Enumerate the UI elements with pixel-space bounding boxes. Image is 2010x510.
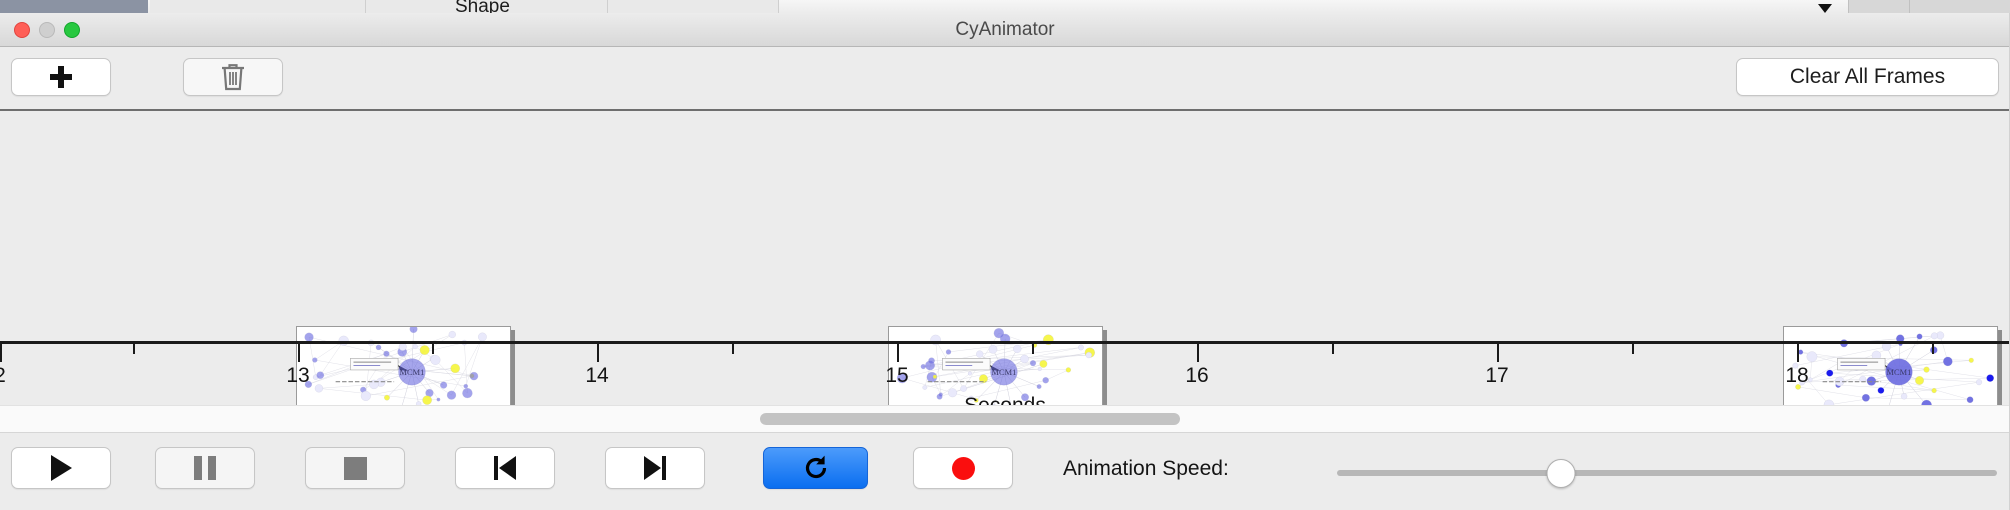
background-window-caret-icon — [1818, 4, 1832, 13]
timeline-panel[interactable]: MCM1 MCM1 MCM1 2131415161718 Seconds — [0, 111, 2010, 405]
delete-frame-button[interactable] — [183, 58, 283, 96]
record-button[interactable] — [913, 447, 1013, 489]
cyanimator-window-root: Shape CyAnimator — [0, 0, 2010, 510]
animation-speed-label: Animation Speed: — [1063, 457, 1229, 481]
axis-tick-minor — [133, 344, 135, 354]
scrollbar-thumb[interactable] — [760, 413, 1180, 425]
skip-forward-icon — [643, 456, 667, 480]
axis-tick-minor — [1632, 344, 1634, 354]
skip-to-end-button[interactable] — [605, 447, 705, 489]
animation-speed-slider[interactable] — [1337, 461, 1997, 485]
background-window-gray-block — [1848, 0, 1909, 13]
axis-tick-minor — [1332, 344, 1334, 354]
window-title: CyAnimator — [0, 19, 2010, 41]
svg-text:MCM1: MCM1 — [1887, 368, 1912, 377]
background-window-label: Shape — [455, 0, 510, 14]
background-window-gray-block — [1909, 0, 2010, 13]
title-bar: CyAnimator — [0, 13, 2010, 47]
pause-icon — [194, 456, 216, 480]
svg-text:MCM1: MCM1 — [992, 368, 1017, 377]
axis-title: Seconds — [0, 394, 2010, 405]
cyanimator-window: CyAnimator Clear All Frames — [0, 13, 2010, 510]
clear-all-frames-button[interactable]: Clear All Frames — [1736, 58, 1999, 96]
axis-tick-label: 16 — [1185, 364, 1208, 388]
plus-icon — [50, 66, 72, 88]
clear-all-frames-label: Clear All Frames — [1790, 65, 1945, 89]
svg-text:MCM1: MCM1 — [400, 368, 425, 377]
axis-tick-label: 2 — [0, 364, 6, 388]
pause-button[interactable] — [155, 447, 255, 489]
frames-toolbar: Clear All Frames — [0, 47, 2010, 111]
loop-icon — [802, 454, 830, 482]
add-frame-button[interactable] — [11, 58, 111, 96]
axis-tick-major — [597, 344, 599, 362]
slider-thumb[interactable] — [1547, 459, 1576, 488]
axis-tick-major — [0, 344, 2, 362]
skip-back-icon — [493, 456, 517, 480]
play-button[interactable] — [11, 447, 111, 489]
background-window-chunk — [608, 0, 779, 13]
axis-tick-minor — [732, 344, 734, 354]
axis-tick-major — [298, 344, 300, 362]
play-icon — [51, 455, 72, 481]
slider-track — [1337, 470, 1997, 476]
loop-button[interactable] — [763, 447, 868, 489]
axis-tick-major — [1197, 344, 1199, 362]
trash-icon — [220, 62, 246, 92]
axis-tick-label: 13 — [286, 364, 309, 388]
axis-tick-major — [1797, 344, 1799, 362]
axis-tick-label: 18 — [1785, 364, 1808, 388]
timeline-horizontal-scrollbar[interactable] — [0, 405, 2010, 433]
axis-tick-major — [1497, 344, 1499, 362]
skip-to-start-button[interactable] — [455, 447, 555, 489]
timeline-axis-line — [0, 341, 2010, 344]
axis-tick-label: 15 — [885, 364, 908, 388]
axis-tick-minor — [432, 344, 434, 354]
background-window-strip: Shape — [0, 0, 2010, 14]
stop-icon — [344, 457, 367, 480]
axis-tick-minor — [1932, 344, 1934, 354]
transport-bar: Animation Speed: — [0, 433, 2010, 507]
record-icon — [952, 457, 975, 480]
background-window-chunk — [150, 0, 366, 13]
axis-tick-major — [897, 344, 899, 362]
axis-tick-minor — [1032, 344, 1034, 354]
stop-button[interactable] — [305, 447, 405, 489]
axis-tick-label: 17 — [1485, 364, 1508, 388]
background-window-dark-block — [0, 0, 148, 13]
axis-tick-label: 14 — [585, 364, 608, 388]
